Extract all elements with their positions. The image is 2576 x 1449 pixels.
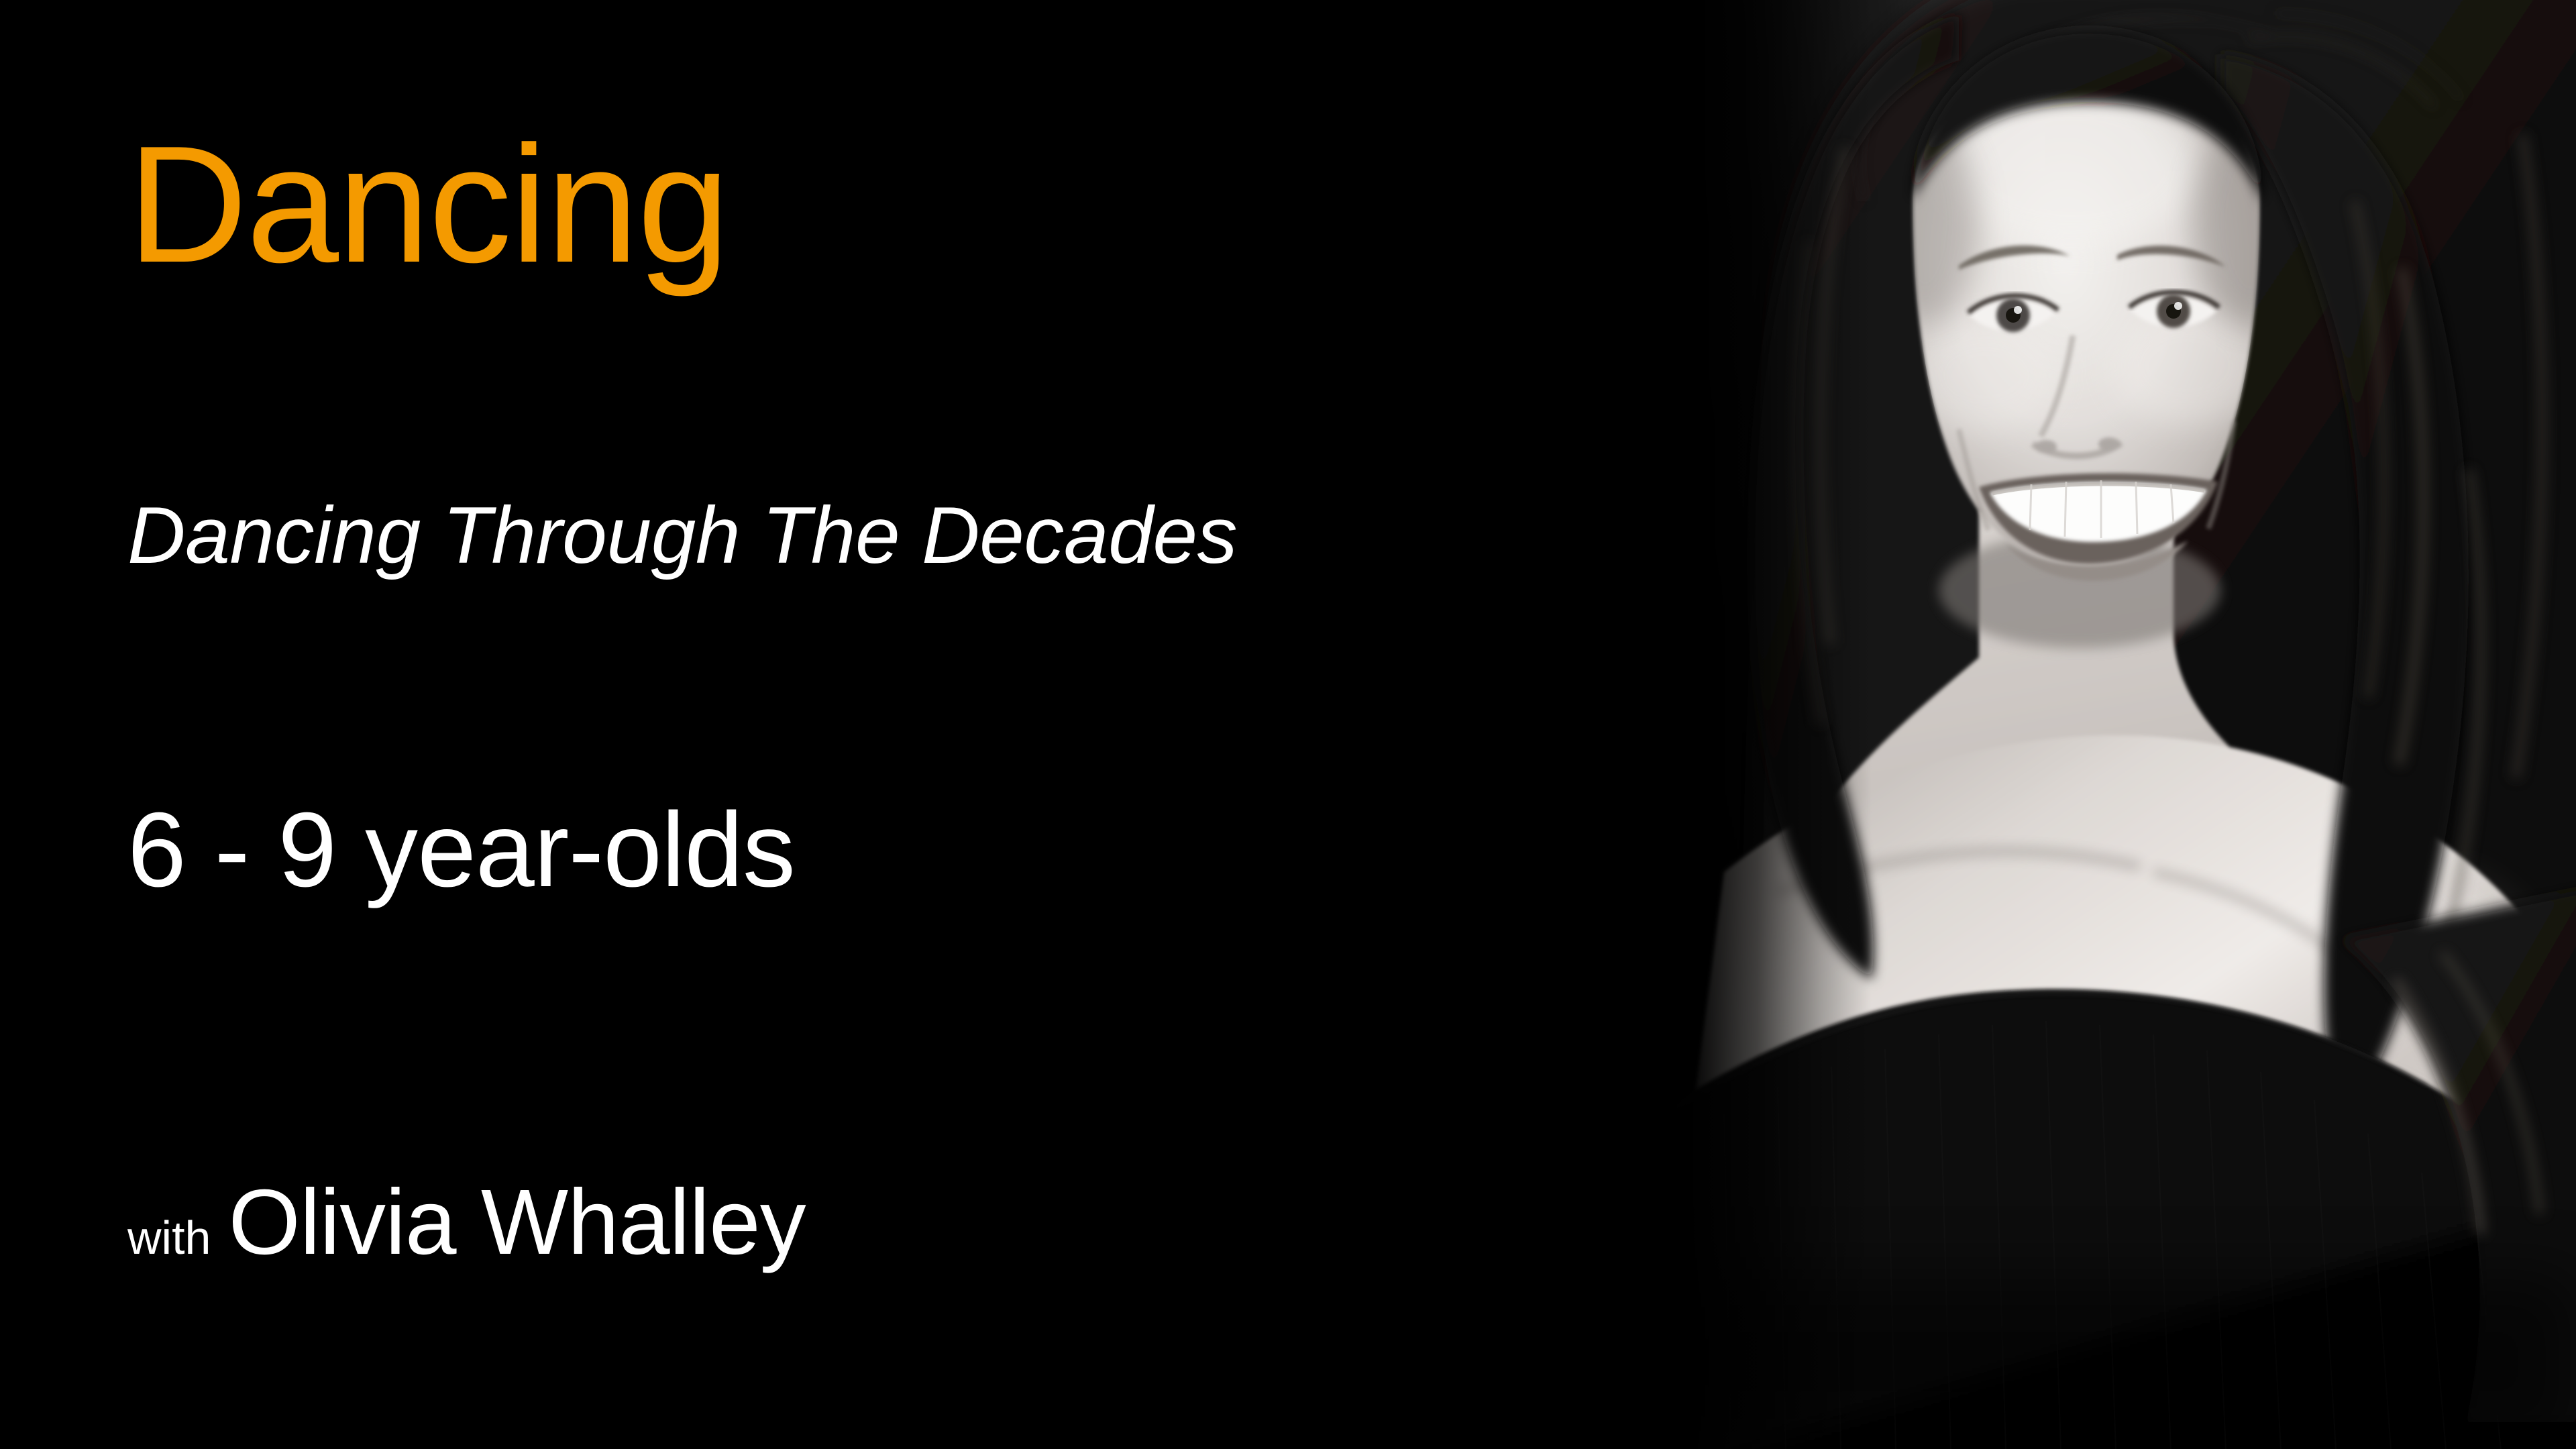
- presenter-portrait-illustration: [1644, 0, 2576, 1449]
- course-promo-slide: Dancing Dancing Through The Decades 6 - …: [0, 0, 2576, 1449]
- age-range-label: 6 - 9 year-olds: [127, 797, 795, 903]
- slide-text-column: Dancing Dancing Through The Decades 6 - …: [0, 0, 1650, 1449]
- presenter-prefix-label: with: [127, 1214, 211, 1261]
- presenter-name: Olivia Whalley: [228, 1176, 805, 1269]
- course-subtitle: Dancing Through The Decades: [127, 495, 1237, 576]
- presenter-photo: [1644, 0, 2576, 1449]
- course-title: Dancing: [127, 121, 729, 287]
- presenter-credit: with Olivia Whalley: [127, 1176, 806, 1269]
- photo-bottom-vignette: [1644, 1275, 2576, 1449]
